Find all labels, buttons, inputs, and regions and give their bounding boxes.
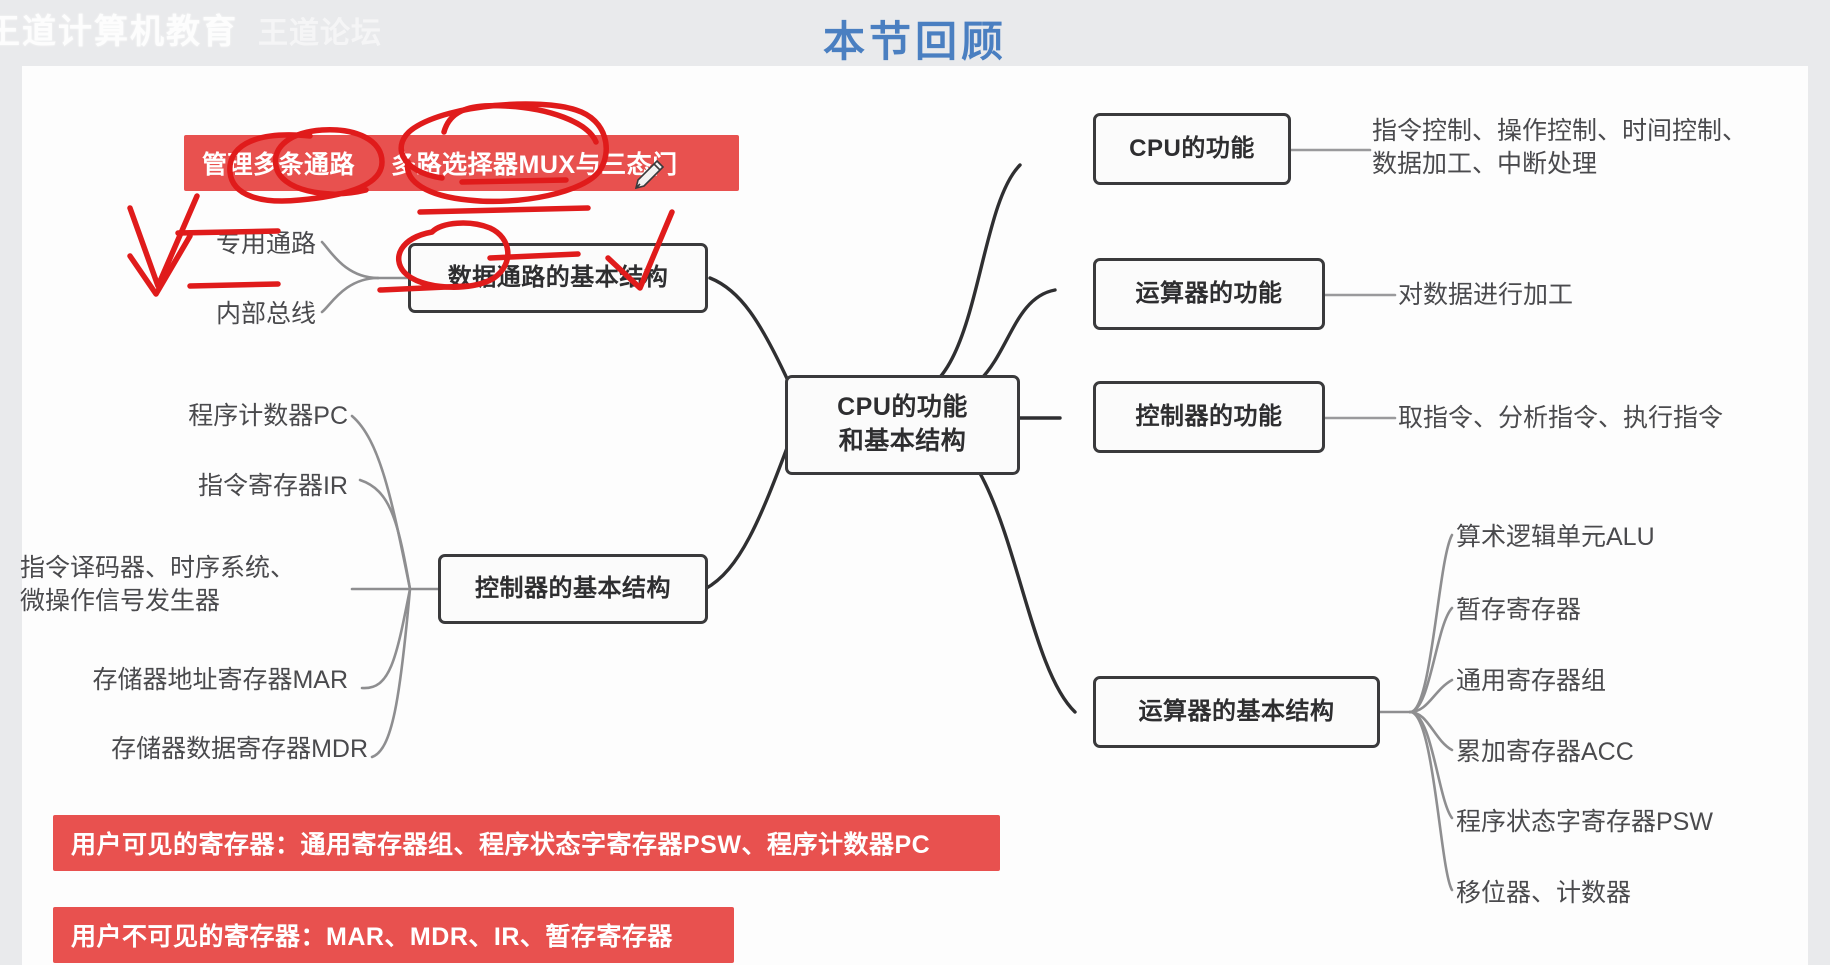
page-title: 本节回顾 <box>0 8 1830 69</box>
node-cpu-function-label: CPU的功能 <box>1129 134 1255 164</box>
node-center-cpu[interactable]: CPU的功能 和基本结构 <box>785 375 1020 475</box>
controller-child-3: 存储器地址寄存器MAR <box>40 664 348 697</box>
banner-visible-registers: 用户可见的寄存器：通用寄存器组、程序状态字寄存器PSW、程序计数器PC <box>53 815 1000 871</box>
node-controller-function-label: 控制器的功能 <box>1136 402 1283 432</box>
alu-child-2: 通用寄存器组 <box>1456 665 1606 698</box>
controller-child-2: 指令译码器、时序系统、 微操作信号发生器 <box>20 552 348 617</box>
datapath-child-1: 内部总线 <box>206 298 316 331</box>
node-controller-structure[interactable]: 控制器的基本结构 <box>438 554 708 624</box>
datapath-child-0: 专用通路 <box>206 228 316 261</box>
alu-child-0: 算术逻辑单元ALU <box>1456 521 1655 554</box>
node-cpu-function[interactable]: CPU的功能 <box>1093 113 1291 185</box>
banner-invisible-registers: 用户不可见的寄存器：MAR、MDR、IR、暂存寄存器 <box>53 907 734 963</box>
detail-alu-function: 对数据进行加工 <box>1398 279 1798 312</box>
alu-child-1: 暂存寄存器 <box>1456 594 1581 627</box>
node-alu-structure-label: 运算器的基本结构 <box>1139 697 1335 727</box>
detail-controller-function: 取指令、分析指令、执行指令 <box>1398 402 1828 435</box>
node-center-label: CPU的功能 和基本结构 <box>837 391 968 459</box>
alu-child-5: 移位器、计数器 <box>1456 877 1631 910</box>
controller-child-1: 指令寄存器IR <box>110 470 348 503</box>
controller-child-4: 存储器数据寄存器MDR <box>40 733 368 766</box>
banner-visible-registers-text: 用户可见的寄存器：通用寄存器组、程序状态字寄存器PSW、程序计数器PC <box>71 825 930 861</box>
node-controller-function[interactable]: 控制器的功能 <box>1093 381 1325 453</box>
node-datapath-structure[interactable]: 数据通路的基本结构 <box>408 243 708 313</box>
node-alu-structure[interactable]: 运算器的基本结构 <box>1093 676 1380 748</box>
banner-top-left-text: 管理多条通路 <box>202 145 355 181</box>
detail-cpu-function: 指令控制、操作控制、时间控制、 数据加工、中断处理 <box>1372 115 1802 180</box>
alu-child-4: 程序状态字寄存器PSW <box>1456 806 1713 839</box>
controller-child-0: 程序计数器PC <box>100 400 348 433</box>
alu-child-3: 累加寄存器ACC <box>1456 736 1634 769</box>
node-controller-structure-label: 控制器的基本结构 <box>475 574 671 604</box>
node-datapath-structure-label: 数据通路的基本结构 <box>448 263 669 293</box>
banner-invisible-registers-text: 用户不可见的寄存器：MAR、MDR、IR、暂存寄存器 <box>71 917 673 953</box>
node-alu-function[interactable]: 运算器的功能 <box>1093 258 1325 330</box>
pen-cursor-icon <box>632 158 666 192</box>
slide-stage: 王道计算机教育 王道论坛 本节回顾 <box>0 0 1830 965</box>
node-alu-function-label: 运算器的功能 <box>1136 279 1283 309</box>
